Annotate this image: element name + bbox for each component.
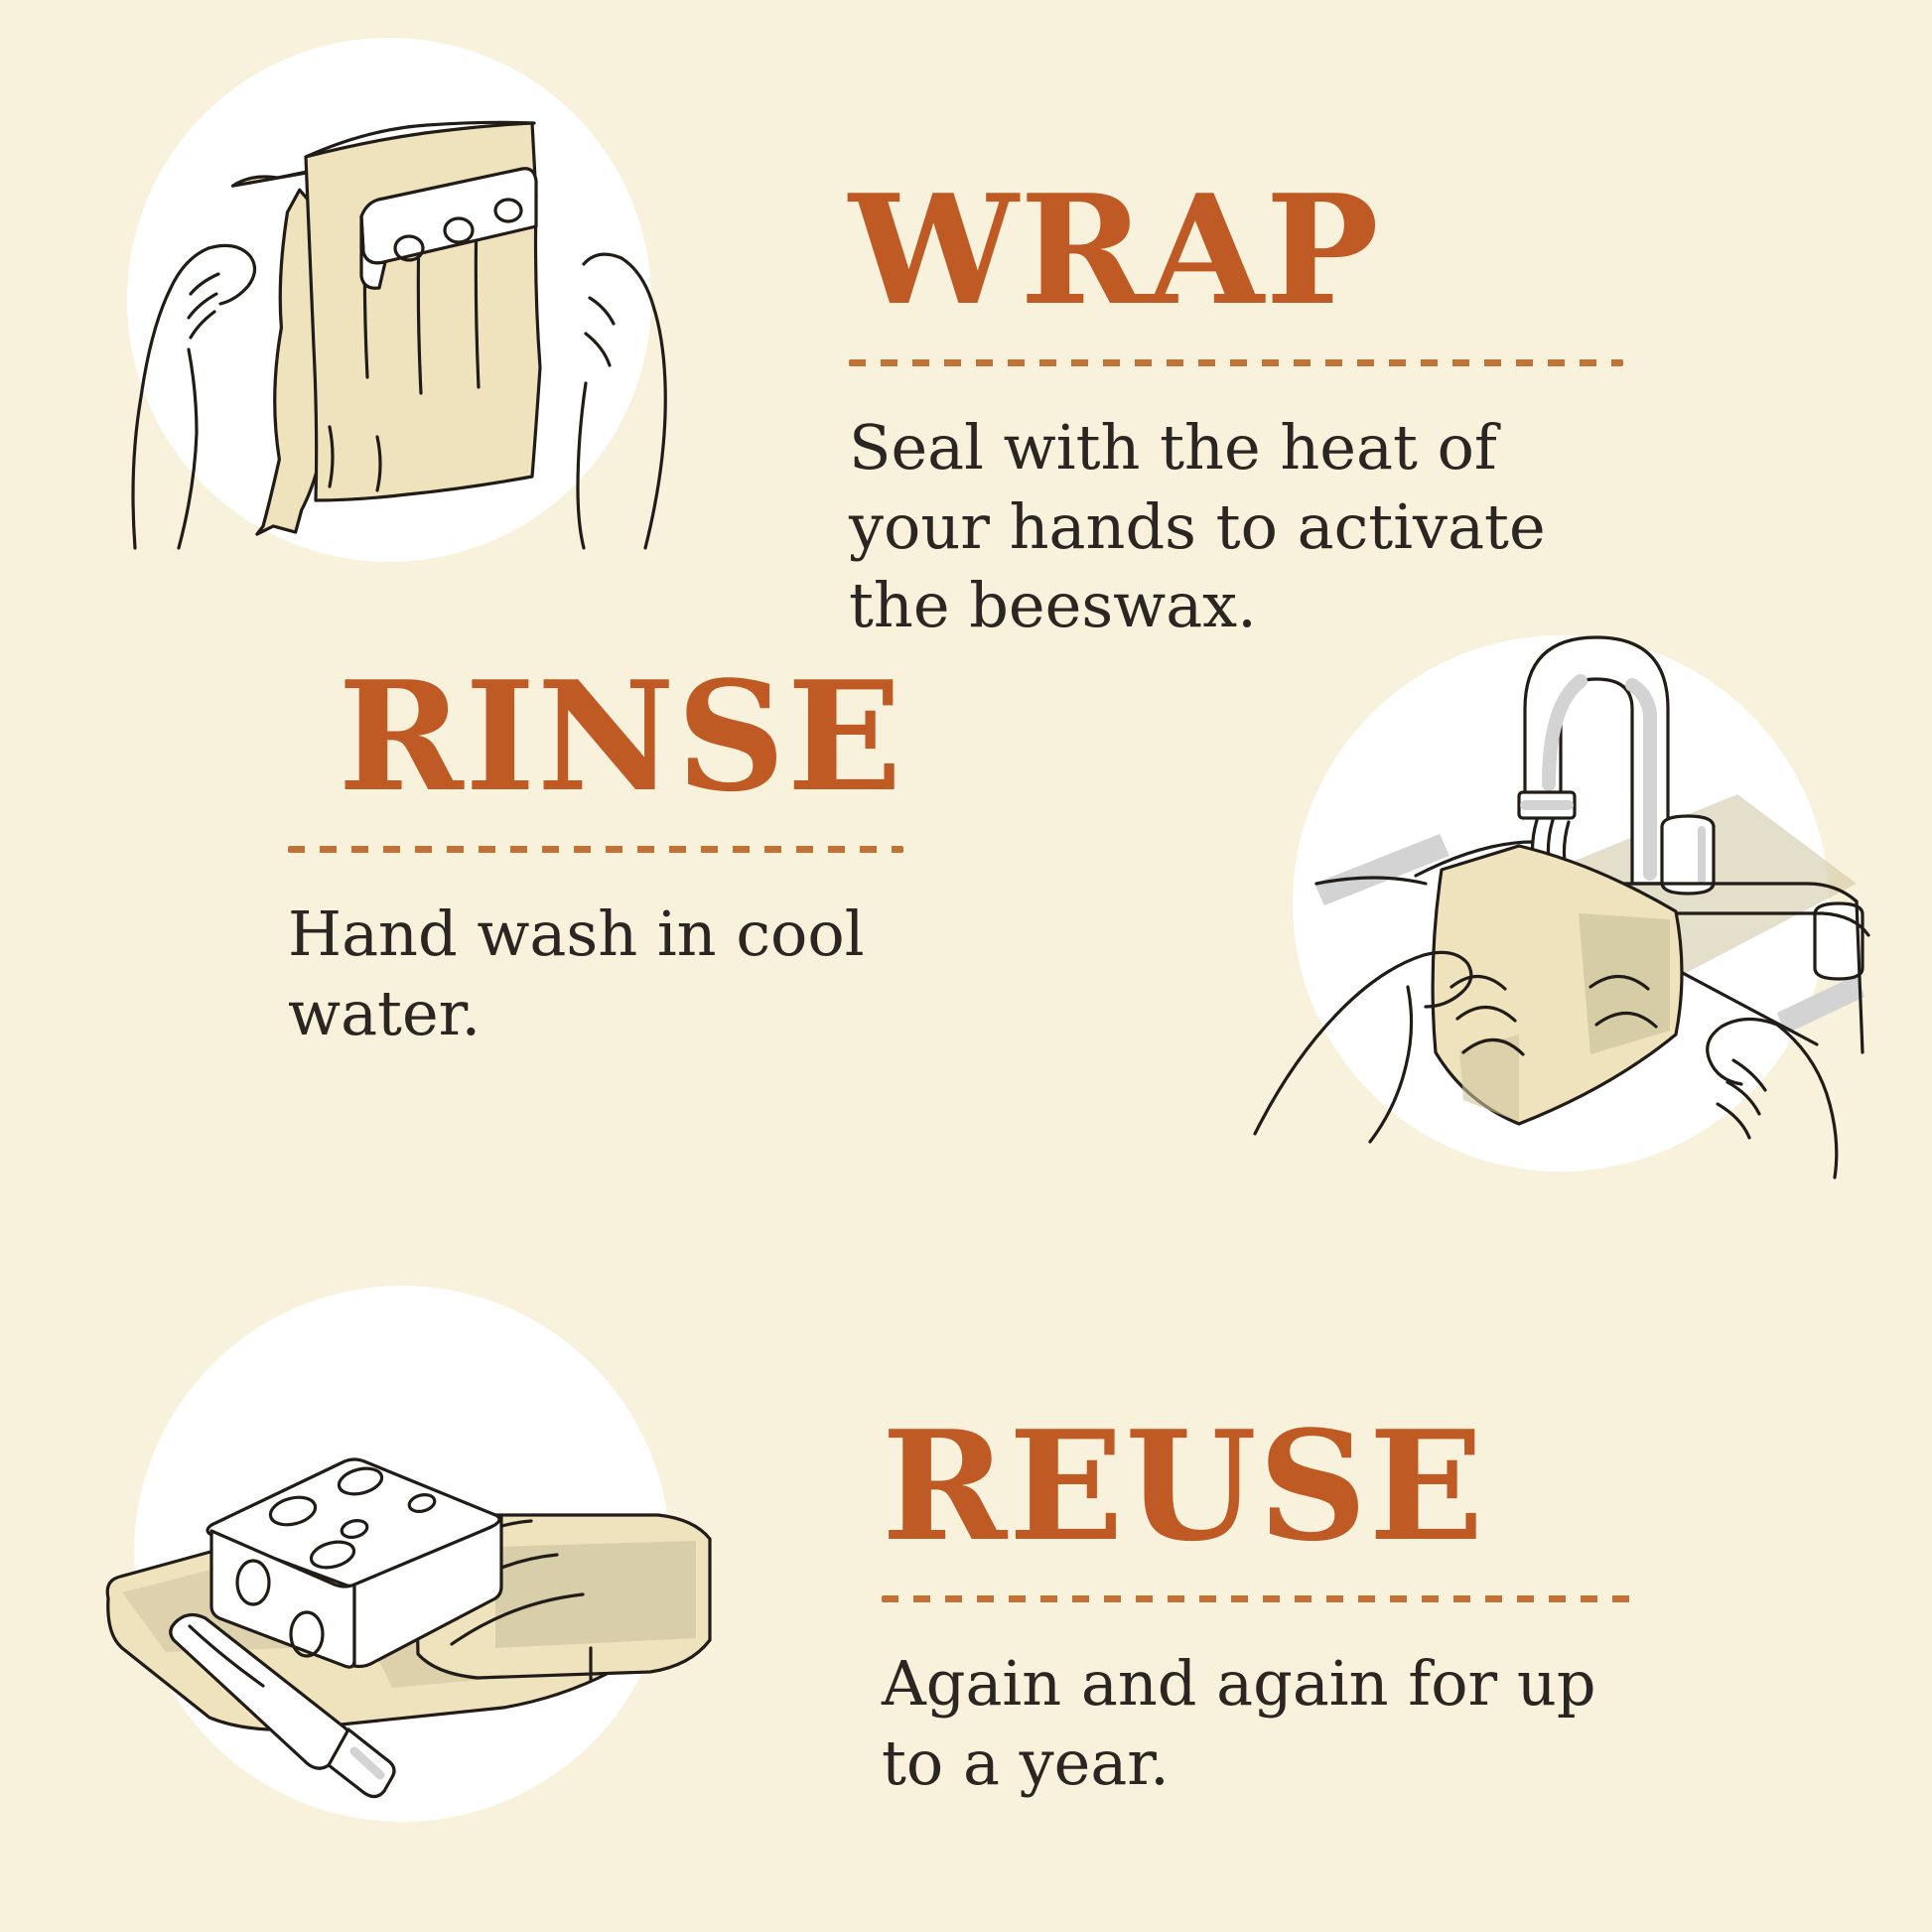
illustration-hands-rinsing-wrap-under-faucet <box>1221 586 1896 1221</box>
step-reuse: REUSE Again and again for up to a year. <box>0 1291 1932 1932</box>
step-rinse: RINSE Hand wash in cool water. <box>0 635 1932 1291</box>
dashed-divider-wrap <box>849 359 1623 366</box>
text-column-rinse: RINSE Hand wash in cool water. <box>288 665 903 1052</box>
illustration-cheese-block-butter-knife-on-wrap <box>94 1350 730 1807</box>
dashed-divider-rinse <box>288 846 903 853</box>
text-column-wrap: WRAP Seal with the heat of your hands to… <box>849 179 1623 644</box>
step-wrap: WRAP Seal with the heat of your hands to… <box>0 0 1932 635</box>
step-heading-rinse: RINSE <box>288 665 903 808</box>
step-heading-wrap: WRAP <box>849 179 1623 322</box>
infographic-canvas: WRAP Seal with the heat of your hands to… <box>0 0 1932 1932</box>
step-caption-reuse: Again and again for up to a year. <box>882 1644 1636 1802</box>
dashed-divider-reuse <box>882 1595 1636 1602</box>
step-caption-rinse: Hand wash in cool water. <box>288 895 903 1052</box>
step-heading-reuse: REUSE <box>882 1415 1636 1558</box>
text-column-reuse: REUSE Again and again for up to a year. <box>882 1415 1636 1802</box>
illustration-hands-wrapping-cheese-block <box>69 99 705 556</box>
